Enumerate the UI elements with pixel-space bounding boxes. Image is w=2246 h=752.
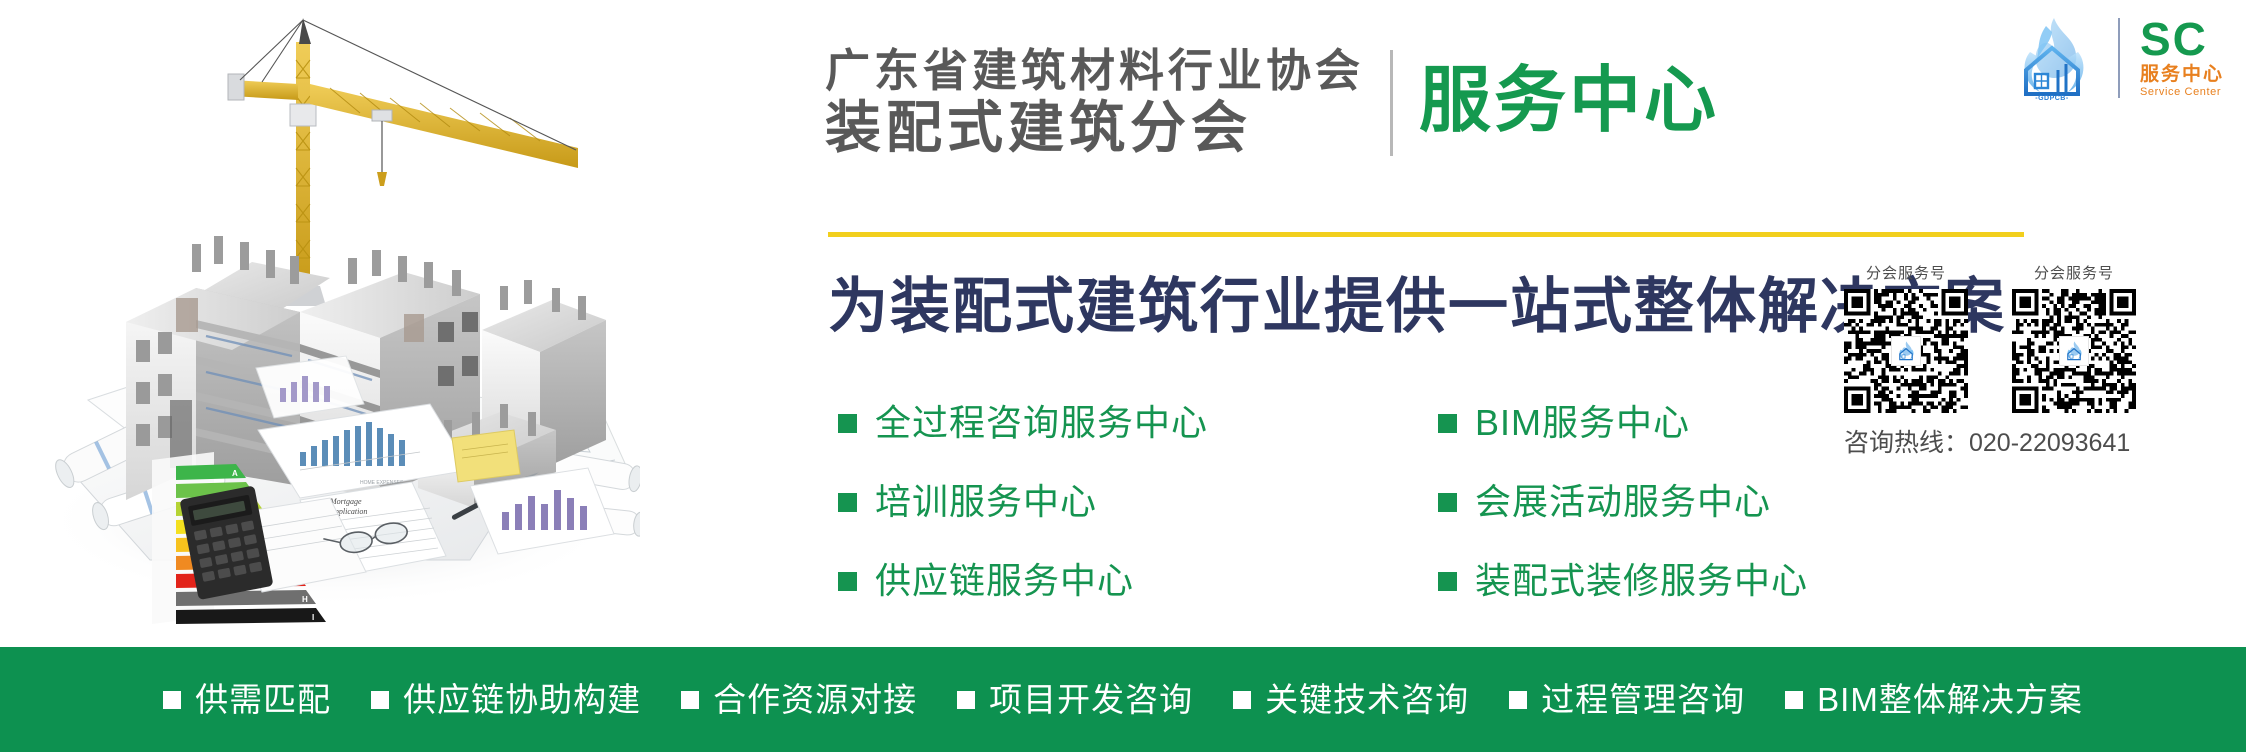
service-item-label: 会展活动服务中心: [1475, 484, 1771, 520]
square-bullet-icon: [1438, 572, 1457, 591]
square-bullet-icon: [371, 691, 389, 709]
qr-code-image[interactable]: [2012, 289, 2136, 413]
logo-mark-caption: -GDPCB-: [2006, 95, 2098, 102]
qr-code-row: 分会服务号: [1844, 262, 2222, 413]
qr-center-flame-house-icon: [2059, 336, 2089, 366]
square-bullet-icon: [838, 493, 857, 512]
banner-title-block: 广东省建筑材料行业协会 装配式建筑分会 服务中心: [825, 44, 1719, 160]
logo-chinese-text: 服务中心: [2140, 65, 2224, 84]
qr-contact-block: 分会服务号: [1844, 262, 2222, 459]
svg-text:A: A: [232, 469, 238, 478]
logo-sc-text: SC: [2140, 18, 2208, 62]
footer-item-label: 合作资源对接: [713, 683, 917, 716]
association-line-1: 广东省建筑材料行业协会: [825, 44, 1364, 97]
service-item[interactable]: 培训服务中心: [838, 474, 1208, 530]
service-item[interactable]: 会展活动服务中心: [1438, 474, 1808, 530]
hotline-text: 咨询热线：020-22093641: [1844, 423, 2222, 459]
footer-item-label: 过程管理咨询: [1541, 683, 1745, 716]
footer-item-label: BIM整体解决方案: [1817, 683, 2083, 716]
construction-hero-illustration: ABC DEF GHI HOME EXPENSES: [0, 0, 640, 640]
association-name: 广东省建筑材料行业协会 装配式建筑分会: [825, 44, 1364, 160]
footer-item-label: 关键技术咨询: [1265, 683, 1469, 716]
service-item-label: 全过程咨询服务中心: [875, 405, 1208, 441]
service-item[interactable]: 装配式装修服务中心: [1438, 553, 1808, 609]
association-line-2: 装配式建筑分会: [825, 97, 1364, 160]
footer-service-bar: 供需匹配 供应链协助构建 合作资源对接 项目开发咨询 关键技术咨询 过程管理咨询: [0, 647, 2246, 752]
svg-text:Mortgage: Mortgage: [329, 497, 362, 506]
flame-house-icon: -GDPCB-: [2006, 12, 2098, 104]
square-bullet-icon: [1438, 493, 1457, 512]
title-divider: [1390, 50, 1393, 156]
qr-caption: 分会服务号: [1844, 262, 1968, 283]
square-bullet-icon: [838, 414, 857, 433]
qr-code-cell[interactable]: 分会服务号: [1844, 262, 1968, 413]
service-item-label: 供应链服务中心: [875, 563, 1134, 599]
service-item[interactable]: BIM服务中心: [1438, 395, 1808, 451]
footer-item[interactable]: 项目开发咨询: [957, 683, 1193, 716]
square-bullet-icon: [681, 691, 699, 709]
logo-english-text: Service Center: [2140, 87, 2221, 98]
square-bullet-icon: [1233, 691, 1251, 709]
svg-text:H: H: [302, 595, 308, 604]
footer-items: 供需匹配 供应链协助构建 合作资源对接 项目开发咨询 关键技术咨询 过程管理咨询: [163, 683, 2083, 716]
square-bullet-icon: [957, 691, 975, 709]
service-center-title: 服务中心: [1419, 54, 1719, 149]
qr-center-flame-house-icon: [1891, 336, 1921, 366]
footer-item[interactable]: 供需匹配: [163, 683, 331, 716]
service-item[interactable]: 全过程咨询服务中心: [838, 395, 1208, 451]
service-center-logo[interactable]: -GDPCB- SC 服务中心 Service Center: [2006, 12, 2224, 104]
service-list-right-column: BIM服务中心 会展活动服务中心 装配式装修服务中心: [1438, 395, 1808, 632]
service-list-left-column: 全过程咨询服务中心 培训服务中心 供应链服务中心: [838, 395, 1208, 632]
footer-item-label: 项目开发咨询: [989, 683, 1193, 716]
footer-item[interactable]: BIM整体解决方案: [1785, 683, 2083, 716]
footer-item[interactable]: 关键技术咨询: [1233, 683, 1469, 716]
qr-code-cell[interactable]: 分会服务号: [2012, 262, 2136, 413]
square-bullet-icon: [1438, 414, 1457, 433]
yellow-divider-rule: [828, 232, 2024, 237]
footer-item-label: 供需匹配: [195, 683, 331, 716]
footer-item-label: 供应链协助构建: [403, 683, 641, 716]
footer-item[interactable]: 供应链协助构建: [371, 683, 641, 716]
banner-content: 广东省建筑材料行业协会 装配式建筑分会 服务中心 为装配式建筑行业提供一站式整体…: [640, 0, 2246, 640]
footer-item[interactable]: 合作资源对接: [681, 683, 917, 716]
square-bullet-icon: [1509, 691, 1527, 709]
square-bullet-icon: [838, 572, 857, 591]
service-item-label: BIM服务中心: [1475, 405, 1690, 441]
service-item[interactable]: 供应链服务中心: [838, 553, 1208, 609]
logo-divider: [2118, 18, 2120, 98]
service-item-label: 装配式装修服务中心: [1475, 563, 1808, 599]
promotional-banner: ABC DEF GHI HOME EXPENSES: [0, 0, 2246, 752]
qr-code-image[interactable]: [1844, 289, 1968, 413]
square-bullet-icon: [1785, 691, 1803, 709]
footer-item[interactable]: 过程管理咨询: [1509, 683, 1745, 716]
square-bullet-icon: [163, 691, 181, 709]
banner-headline: 为装配式建筑行业提供一站式整体解决方案: [828, 258, 2006, 345]
service-item-label: 培训服务中心: [875, 484, 1097, 520]
qr-caption: 分会服务号: [2012, 262, 2136, 283]
svg-text:I: I: [312, 613, 314, 622]
logo-wordmark: SC 服务中心 Service Center: [2140, 18, 2224, 99]
